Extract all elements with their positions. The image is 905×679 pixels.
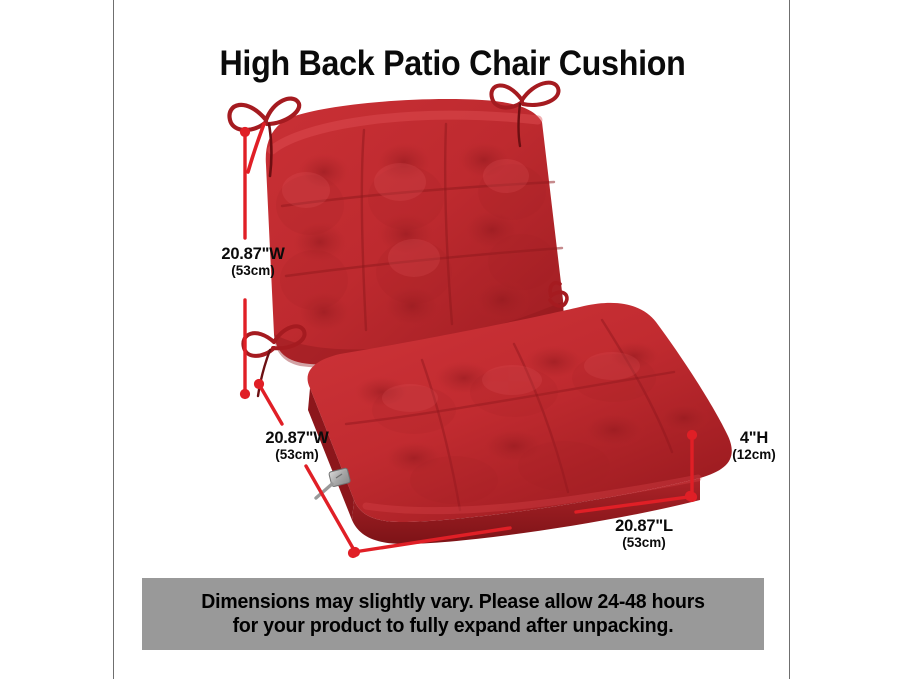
dimension-value-seat-length: 20.87"L (564, 518, 724, 535)
dimension-metric-seat-length: (53cm) (564, 535, 724, 552)
dimension-label-seat-height: 4"H (12cm) (706, 430, 802, 464)
disclaimer-line-1: Dimensions may slightly vary. Please all… (201, 590, 705, 614)
dimension-value-seat-width: 20.87"W (232, 430, 362, 447)
disclaimer-line-2: for your product to fully expand after u… (201, 614, 705, 638)
disclaimer-banner: Dimensions may slightly vary. Please all… (142, 578, 764, 650)
dimension-label-seat-width: 20.87"W (53cm) (232, 430, 362, 464)
disclaimer-text: Dimensions may slightly vary. Please all… (201, 590, 705, 638)
dimension-value-back-width: 20.87"W (188, 246, 318, 263)
dimension-value-seat-height: 4"H (706, 430, 802, 447)
dimension-metric-seat-width: (53cm) (232, 447, 362, 464)
dimension-label-back-width: 20.87"W (53cm) (188, 246, 318, 280)
dimension-metric-back-width: (53cm) (188, 263, 318, 280)
image-panel: High Back Patio Chair Cushion (113, 0, 790, 679)
dimension-label-seat-length: 20.87"L (53cm) (564, 518, 724, 552)
dimension-metric-seat-height: (12cm) (706, 447, 802, 464)
product-image-canvas: High Back Patio Chair Cushion (0, 0, 905, 679)
